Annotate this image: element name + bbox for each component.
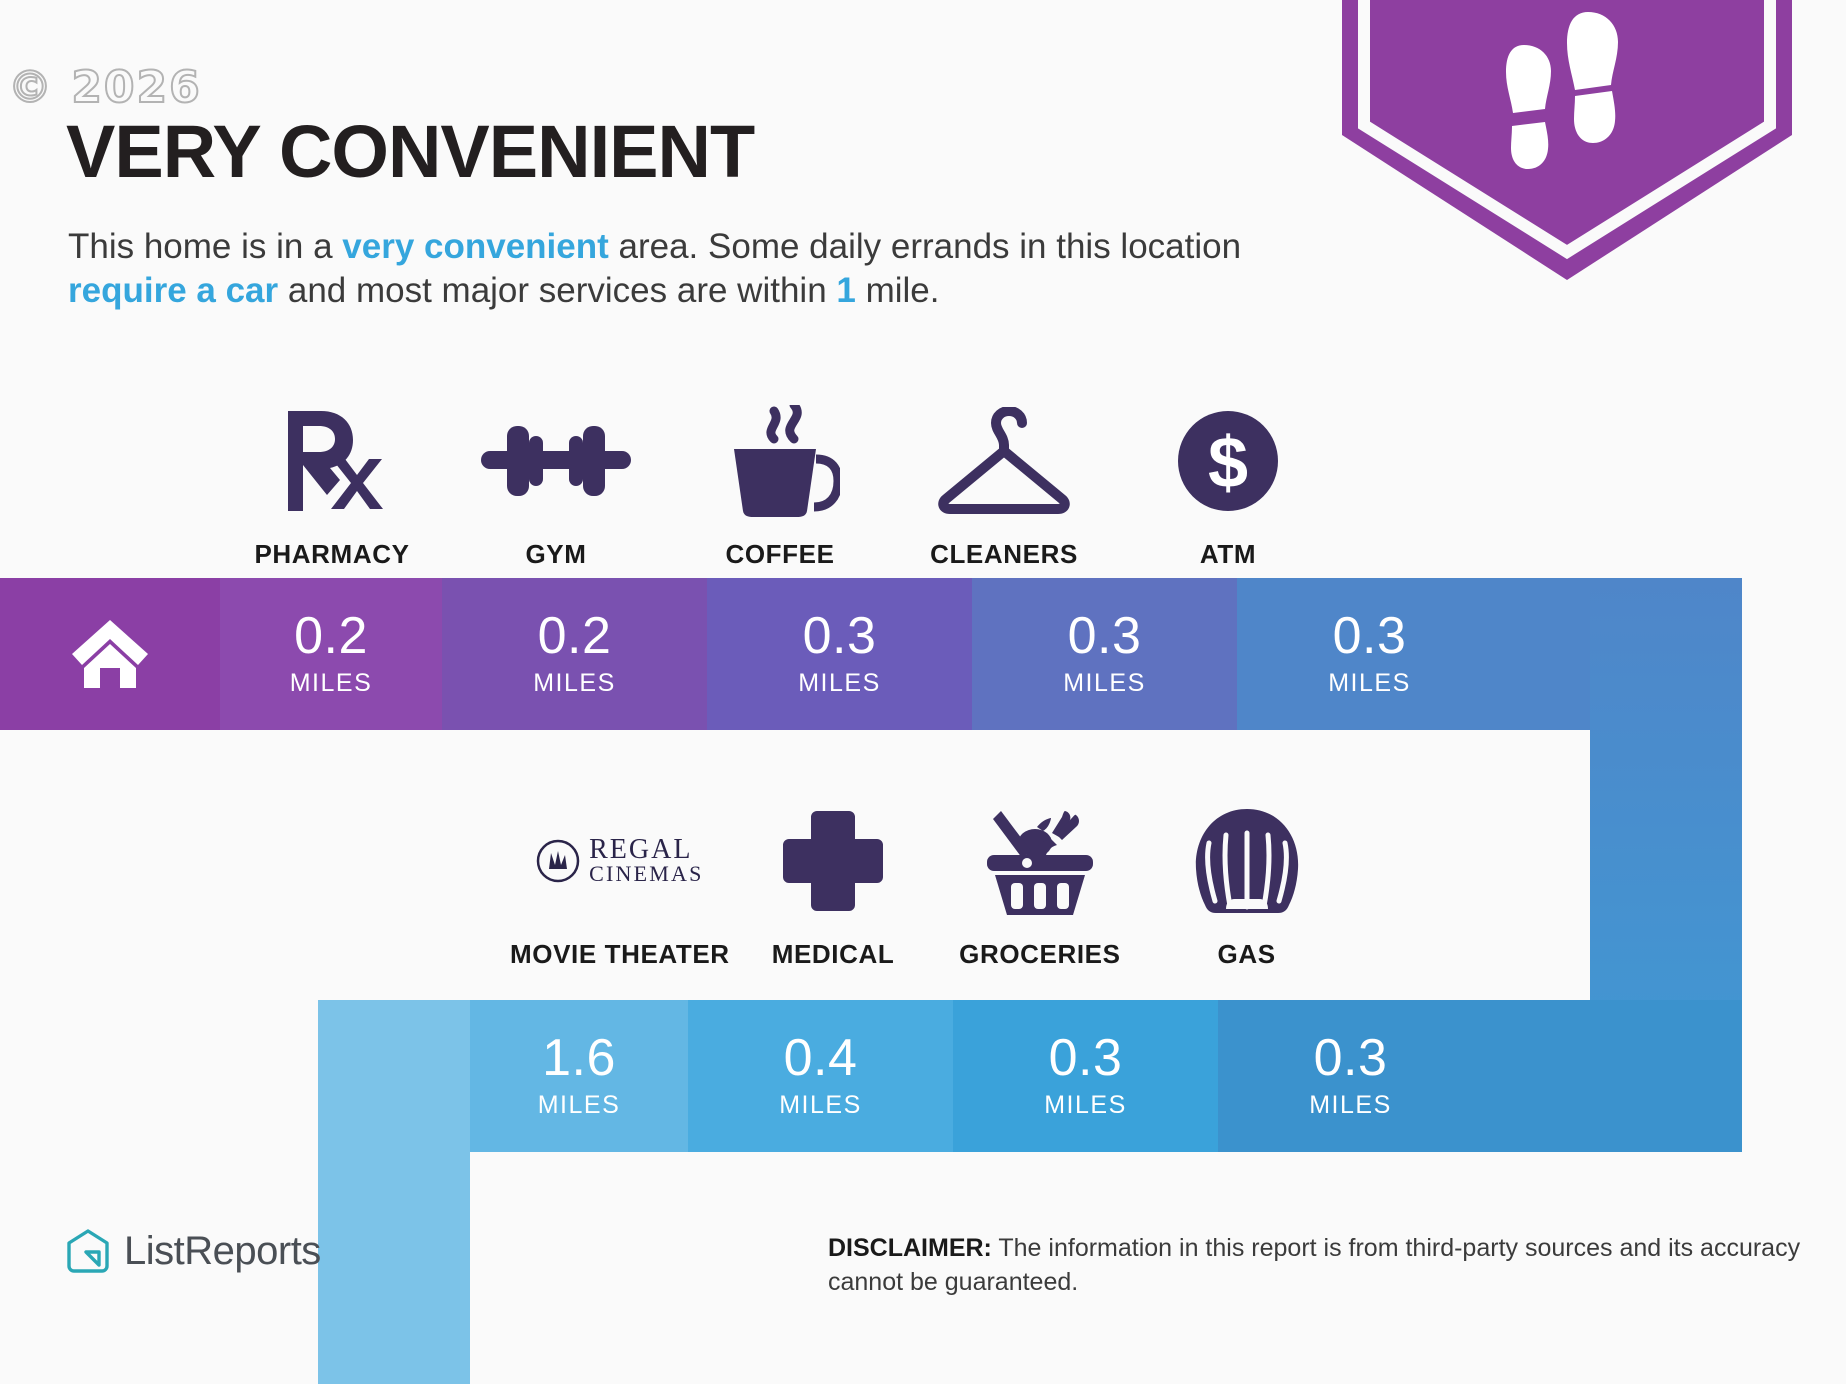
distance-value: 0.3 (1314, 1032, 1388, 1084)
copyright-watermark: © 2026 (8, 62, 202, 113)
distance-unit: MILES (779, 1091, 862, 1120)
rx-icon (280, 401, 385, 521)
dollar-circle-icon: $ (1176, 401, 1280, 521)
distance-value: 0.3 (1333, 610, 1407, 662)
distance-cell-coffee: 0.3 MILES (707, 578, 972, 730)
walkability-footprints-badge (1342, 0, 1792, 280)
distance-value: 0.2 (294, 610, 368, 662)
listreports-brand-text: ListReports (124, 1229, 321, 1274)
amenity-label: CLEANERS (930, 539, 1078, 570)
clothes-hanger-icon (930, 401, 1078, 521)
amenity-groceries: GROCERIES (936, 801, 1143, 970)
regal-crown-icon (536, 839, 580, 883)
distance-cell-pharmacy: 0.2 MILES (220, 578, 442, 730)
distance-value: 0.4 (784, 1032, 858, 1084)
distance-unit: MILES (538, 1091, 621, 1120)
distance-value: 0.3 (803, 610, 877, 662)
desc-text-1: This home is in a (68, 227, 342, 266)
amenity-atm: $ ATM (1116, 401, 1340, 570)
amenity-movie-theater: REGAL CINEMAS MOVIE THEATER (510, 801, 730, 970)
amenity-medical: MEDICAL (730, 801, 937, 970)
listreports-logo[interactable]: ListReports (66, 1228, 321, 1274)
distance-cell-gas: 0.3 MILES (1218, 1000, 1483, 1152)
page-description: This home is in a very convenient area. … (68, 225, 1328, 313)
distance-unit: MILES (1044, 1091, 1127, 1120)
grocery-basket-icon (979, 801, 1101, 921)
desc-mile-number: 1 (836, 271, 855, 310)
distance-cell-movie-theater: 1.6 MILES (470, 1000, 688, 1152)
home-icon (70, 618, 150, 690)
distance-band-row-1: 0.2 MILES 0.2 MILES 0.3 MILES 0.3 MILES … (0, 578, 1742, 730)
distance-cell-atm: 0.3 MILES (1237, 578, 1502, 730)
distance-band-row-2: 1.6 MILES 0.4 MILES 0.3 MILES 0.3 MILES (318, 1000, 1742, 1152)
amenity-gas: GAS (1143, 801, 1350, 970)
badge-shape-icon (1342, 0, 1792, 280)
band-connector-left (318, 1000, 470, 1384)
disclaimer-label: DISCLAIMER: (828, 1234, 992, 1262)
amenity-label: COFFEE (725, 539, 834, 570)
regal-cinemas-logo: REGAL CINEMAS (536, 801, 703, 921)
home-marker (0, 578, 220, 730)
distance-unit: MILES (1328, 669, 1411, 698)
distance-value: 0.2 (538, 610, 612, 662)
dumbbell-icon (481, 401, 631, 521)
regal-logo-line-2: CINEMAS (589, 864, 703, 885)
amenity-pharmacy: PHARMACY (220, 401, 444, 570)
amenity-gym: GYM (444, 401, 668, 570)
page-title: VERY CONVENIENT (66, 115, 754, 189)
amenity-label: PHARMACY (254, 539, 409, 570)
distance-cell-groceries: 0.3 MILES (953, 1000, 1218, 1152)
distance-unit: MILES (1309, 1091, 1392, 1120)
distance-cell-gym: 0.2 MILES (442, 578, 707, 730)
distance-unit: MILES (290, 669, 373, 698)
svg-text:$: $ (1208, 423, 1248, 503)
amenity-label: MOVIE THEATER (510, 939, 730, 970)
desc-highlight-convenient: very convenient (342, 227, 609, 266)
infographic-page: © 2026 VERY CONVENIENT This home is in a… (0, 0, 1846, 1384)
medical-cross-icon (779, 801, 887, 921)
distance-value: 0.3 (1068, 610, 1142, 662)
desc-text-3: and most major services are within (278, 271, 836, 310)
distance-value: 1.6 (542, 1032, 616, 1084)
amenity-icon-row-1: PHARMACY GYM (220, 380, 1340, 570)
amenity-label: GYM (525, 539, 586, 570)
desc-text-4: mile. (856, 271, 940, 310)
amenity-label: GROCERIES (959, 939, 1120, 970)
distance-unit: MILES (533, 669, 616, 698)
listreports-house-icon (66, 1228, 110, 1274)
desc-highlight-car: require a car (68, 271, 278, 310)
amenity-cleaners: CLEANERS (892, 401, 1116, 570)
amenity-coffee: COFFEE (668, 401, 892, 570)
distance-cell-cleaners: 0.3 MILES (972, 578, 1237, 730)
desc-text-2: area. Some daily errands in this locatio… (609, 227, 1241, 266)
amenity-icon-row-2: REGAL CINEMAS MOVIE THEATER MEDICAL (510, 780, 1350, 970)
amenity-label: MEDICAL (772, 939, 895, 970)
amenity-label: GAS (1218, 939, 1276, 970)
amenity-label: ATM (1200, 539, 1256, 570)
disclaimer: DISCLAIMER: The information in this repo… (828, 1232, 1818, 1300)
regal-logo-line-1: REGAL (589, 837, 703, 864)
shell-gas-icon (1192, 801, 1302, 921)
coffee-cup-icon (720, 401, 840, 521)
distance-unit: MILES (798, 669, 881, 698)
distance-cell-medical: 0.4 MILES (688, 1000, 953, 1152)
band-tail-right-2 (1483, 1000, 1742, 1152)
distance-value: 0.3 (1049, 1032, 1123, 1084)
distance-unit: MILES (1063, 669, 1146, 698)
